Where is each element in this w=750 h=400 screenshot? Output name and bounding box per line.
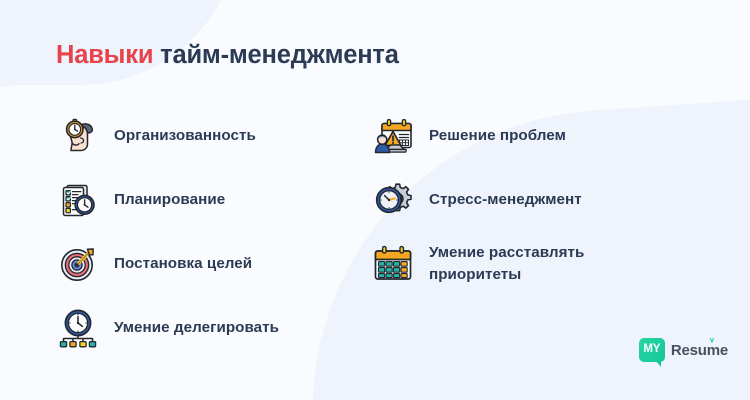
clock-hierarchy-icon bbox=[56, 306, 100, 350]
skill-label: Умение расставлять приоритеты bbox=[429, 242, 619, 285]
target-dart-icon bbox=[56, 242, 100, 286]
logo-accent-mark: ᵛ bbox=[710, 337, 714, 348]
clock-gear-icon bbox=[371, 178, 415, 222]
page-title-accent: Навыки bbox=[56, 41, 153, 69]
skill-label: Организованность bbox=[114, 125, 256, 147]
logo-mark-text: MY bbox=[643, 344, 660, 356]
skill-label: Умение делегировать bbox=[114, 317, 279, 339]
calendar-warning-laptop-icon bbox=[371, 114, 415, 158]
page-title: Навыки тайм-менеджмента bbox=[56, 40, 710, 71]
skill-item-organization: Организованность bbox=[56, 104, 361, 168]
skills-grid: Организованность bbox=[56, 104, 710, 360]
logo-speech-bubble-icon: MY bbox=[639, 338, 665, 362]
skills-column-left: Организованность bbox=[56, 104, 361, 360]
infographic-page: Навыки тайм-менеджмента bbox=[0, 0, 750, 400]
calendar-grid-icon bbox=[371, 242, 415, 286]
skills-column-right: Решение проблем bbox=[371, 104, 710, 360]
logo-wordmark: Resume ᵛ bbox=[671, 338, 728, 358]
skill-item-delegation: Умение делегировать bbox=[56, 296, 361, 360]
skill-item-planning: Планирование bbox=[56, 168, 361, 232]
skill-item-goal-setting: Постановка целей bbox=[56, 232, 361, 296]
myresume-logo[interactable]: MY Resume ᵛ bbox=[639, 338, 728, 362]
skill-label: Планирование bbox=[114, 189, 225, 211]
skill-item-stress-management: Стресс-менеджмент bbox=[371, 168, 710, 232]
skill-item-prioritization: Умение расставлять приоритеты bbox=[371, 232, 710, 296]
head-stopwatch-icon bbox=[56, 114, 100, 158]
logo-word-text: Resume bbox=[671, 342, 728, 359]
skill-item-problem-solving: Решение проблем bbox=[371, 104, 710, 168]
page-title-rest: тайм-менеджмента bbox=[153, 41, 398, 69]
skill-label: Постановка целей bbox=[114, 253, 252, 275]
skill-label: Решение проблем bbox=[429, 125, 566, 147]
skill-label: Стресс-менеджмент bbox=[429, 189, 582, 211]
checklist-clock-icon bbox=[56, 178, 100, 222]
